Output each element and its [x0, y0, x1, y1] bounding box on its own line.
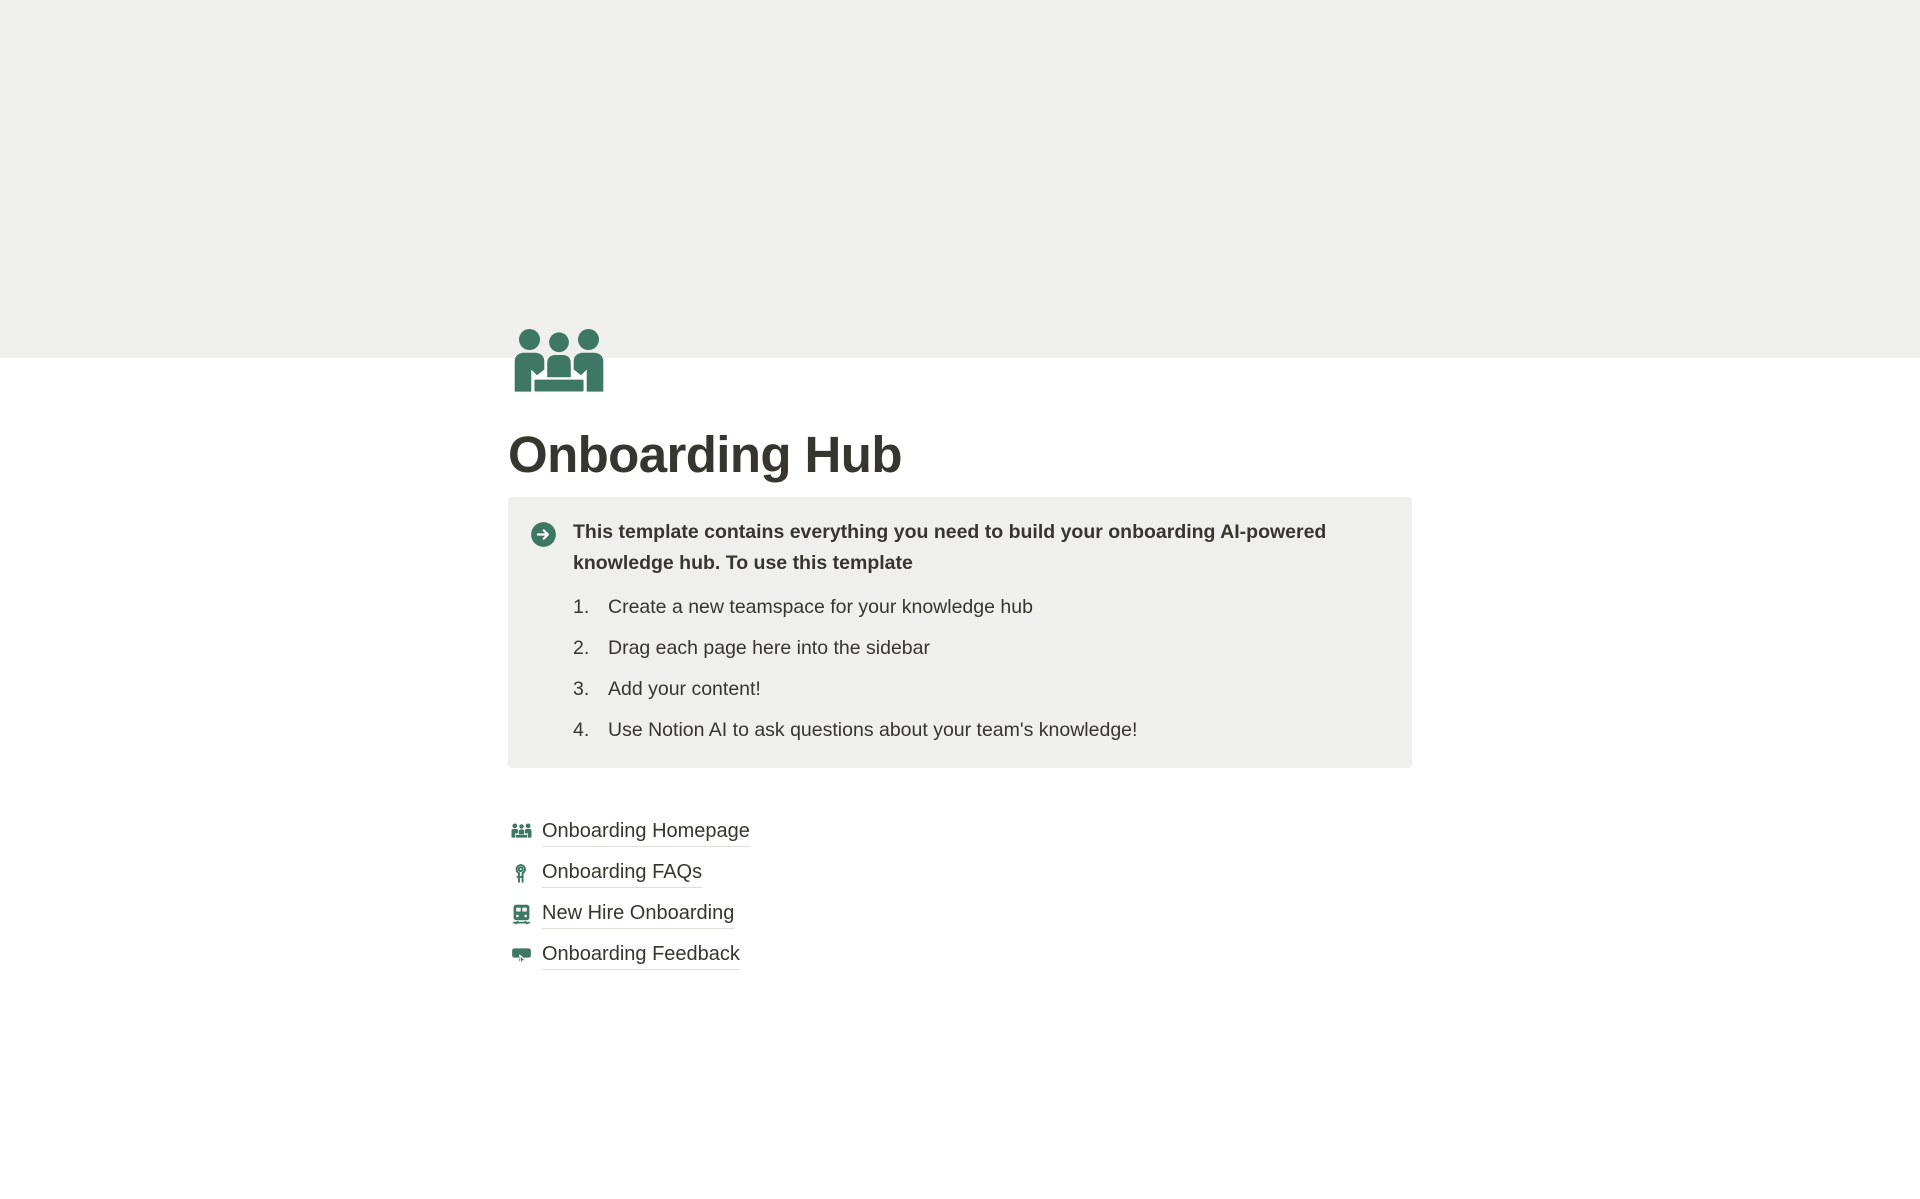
page-link-onboarding-homepage[interactable]: Onboarding Homepage	[508, 812, 1414, 853]
page-links-list: Onboarding Homepage Onboarding FAQs	[508, 812, 1414, 976]
callout-block[interactable]: This template contains everything you ne…	[508, 497, 1412, 768]
meeting-people-table-icon	[508, 820, 534, 846]
meeting-people-table-icon[interactable]	[508, 318, 610, 420]
page-link-label: Onboarding Feedback	[542, 941, 740, 970]
page-link-label: Onboarding Homepage	[542, 818, 750, 847]
page-link-new-hire-onboarding[interactable]: New Hire Onboarding	[508, 894, 1414, 935]
list-item[interactable]: Use Notion AI to ask questions about you…	[573, 716, 1390, 744]
page-link-onboarding-feedback[interactable]: Onboarding Feedback	[508, 935, 1414, 976]
page-link-label: Onboarding FAQs	[542, 859, 702, 888]
page-body: Onboarding Hub This template contains ev…	[0, 0, 1920, 1199]
page-link-onboarding-faqs[interactable]: Onboarding FAQs	[508, 853, 1414, 894]
list-item[interactable]: Add your content!	[573, 675, 1390, 703]
tram-train-icon	[508, 902, 534, 928]
callout-title[interactable]: This template contains everything you ne…	[573, 517, 1379, 579]
speech-bubble-cursor-icon	[508, 943, 534, 969]
callout-steps-list: Create a new teamspace for your knowledg…	[573, 593, 1390, 744]
page-title[interactable]: Onboarding Hub	[508, 424, 1508, 485]
list-item[interactable]: Drag each page here into the sidebar	[573, 634, 1390, 662]
head-question-icon	[508, 861, 534, 887]
list-item[interactable]: Create a new teamspace for your knowledg…	[573, 593, 1390, 621]
callout-body: This template contains everything you ne…	[573, 517, 1390, 744]
arrow-right-circle-icon	[530, 521, 557, 548]
page-link-label: New Hire Onboarding	[542, 900, 734, 929]
